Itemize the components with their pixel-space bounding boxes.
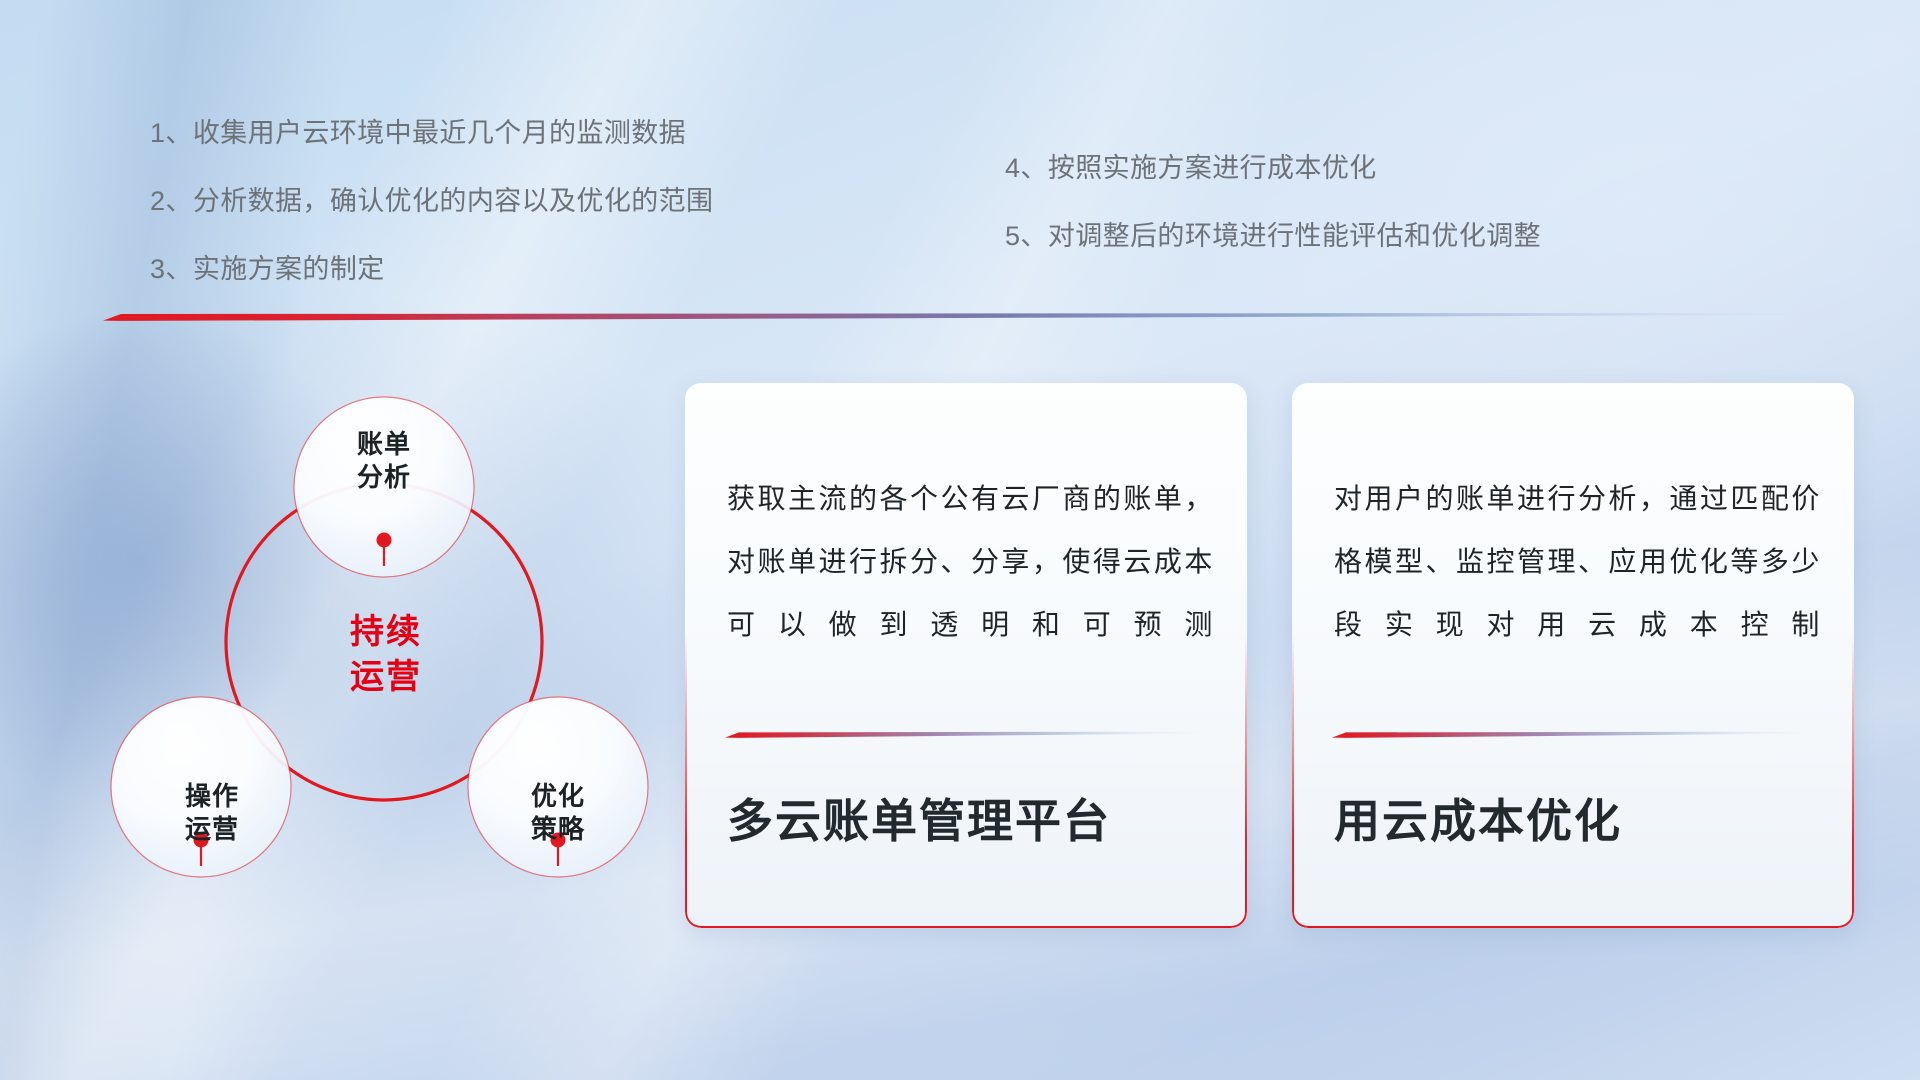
card-body-text: 对用户的账单进行分析，通过匹配价格模型、监控管理、应用优化等多少段实现对用云成本…: [1334, 467, 1820, 656]
connector-dot-right: [551, 833, 566, 848]
feature-card-multicloud-billing[interactable]: 获取主流的各个公有云厂商的账单，对账单进行拆分、分享，使得云成本可以做到透明和可…: [685, 383, 1247, 928]
connector-dot-top: [377, 533, 392, 548]
slide-canvas: 1、收集用户云环境中最近几个月的监测数据 2、分析数据，确认优化的内容以及优化的…: [0, 0, 1920, 1080]
step-item: 3、实施方案的制定: [150, 256, 713, 283]
card-title: 用云成本优化: [1334, 793, 1824, 851]
card-divider: [725, 731, 1211, 738]
continuous-operation-diagram: 账单 分析 操作 运营 优化 策略 持续 运营: [96, 352, 666, 952]
step-item: 5、对调整后的环境进行性能评估和优化调整: [1005, 223, 1541, 250]
card-divider: [1332, 731, 1818, 738]
step-item: 4、按照实施方案进行成本优化: [1005, 155, 1541, 182]
card-title: 多云账单管理平台: [727, 793, 1217, 851]
top-divider: [103, 312, 1818, 321]
steps-right-column: 4、按照实施方案进行成本优化 5、对调整后的环境进行性能评估和优化调整: [1005, 155, 1541, 250]
step-item: 1、收集用户云环境中最近几个月的监测数据: [150, 120, 713, 147]
steps-left-column: 1、收集用户云环境中最近几个月的监测数据 2、分析数据，确认优化的内容以及优化的…: [150, 120, 713, 283]
feature-card-cloud-cost-optimization[interactable]: 对用户的账单进行分析，通过匹配价格模型、监控管理、应用优化等多少段实现对用云成本…: [1292, 383, 1854, 928]
card-body-text: 获取主流的各个公有云厂商的账单，对账单进行拆分、分享，使得云成本可以做到透明和可…: [727, 467, 1213, 656]
step-item: 2、分析数据，确认优化的内容以及优化的范围: [150, 188, 713, 215]
diagram-svg: [96, 352, 666, 952]
connector-dot-left: [194, 833, 209, 848]
